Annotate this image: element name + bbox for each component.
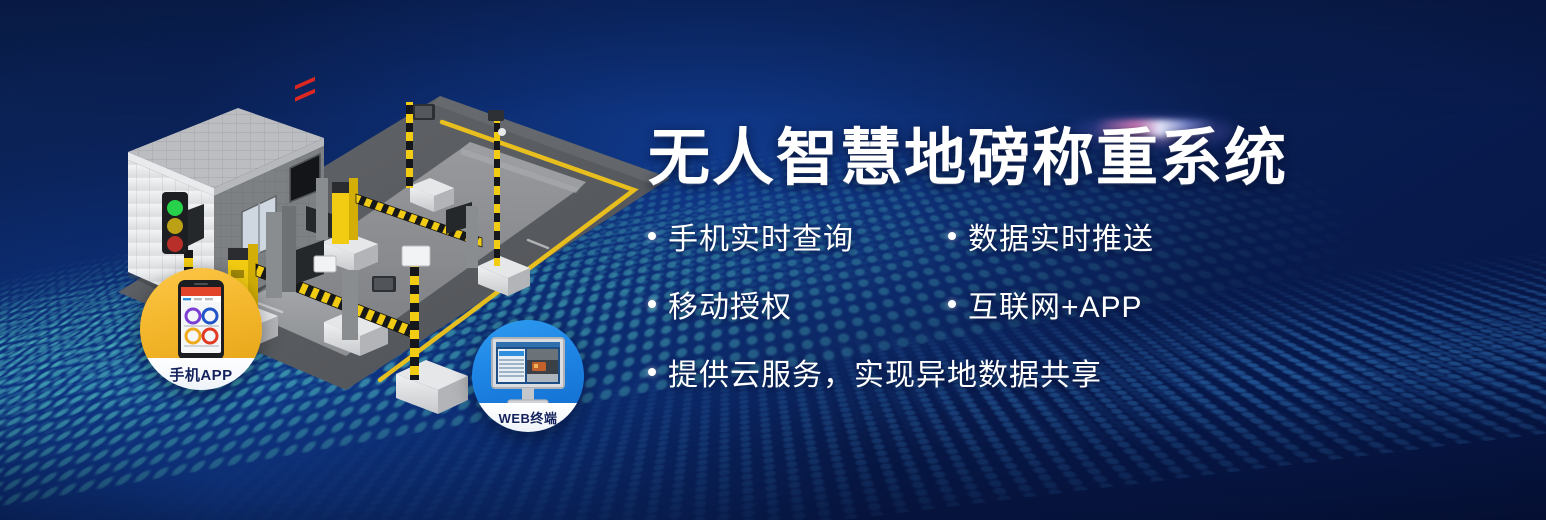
feature-list: 手机实时查询 数据实时推送 移动授权 互联网+APP	[648, 214, 1348, 394]
feature-item: 互联网+APP	[948, 282, 1143, 326]
badge-label-wrap: 手机APP	[140, 358, 262, 390]
feature-item: 数据实时推送	[948, 214, 1154, 258]
feature-label: 提供云服务，实现异地数据共享	[668, 350, 1102, 394]
feature-label: 数据实时推送	[968, 214, 1154, 258]
badge-mobile-app[interactable]: 手机APP	[140, 268, 262, 390]
badge-web-terminal[interactable]: WEB终端	[472, 320, 584, 432]
feature-row: 移动授权 互联网+APP	[648, 282, 1348, 326]
bullet-dot-icon	[648, 368, 656, 376]
bullet-dot-icon	[648, 232, 656, 240]
page-title: 无人智慧地磅称重系统	[648, 128, 1348, 190]
bullet-dot-icon	[948, 232, 956, 240]
feature-row: 提供云服务，实现异地数据共享	[648, 350, 1348, 394]
feature-label: 互联网+APP	[968, 282, 1143, 326]
badge-label-wrap: WEB终端	[472, 403, 584, 432]
feature-item: 提供云服务，实现异地数据共享	[648, 350, 1102, 394]
copy-block: 无人智慧地磅称重系统 手机实时查询 数据实时推送 移动授权	[648, 128, 1348, 418]
feature-item: 移动授权	[648, 282, 948, 326]
feature-row: 手机实时查询 数据实时推送	[648, 214, 1348, 258]
feature-item: 手机实时查询	[648, 214, 948, 258]
bullet-dot-icon	[648, 300, 656, 308]
badge-label-mobile-app: 手机APP	[169, 364, 232, 385]
bullet-dot-icon	[948, 300, 956, 308]
feature-label: 移动授权	[668, 282, 792, 326]
feature-label: 手机实时查询	[668, 214, 854, 258]
promo-banner: 手机APP WEB终端 无人智	[0, 0, 1546, 520]
badge-label-web-terminal: WEB终端	[499, 408, 558, 427]
